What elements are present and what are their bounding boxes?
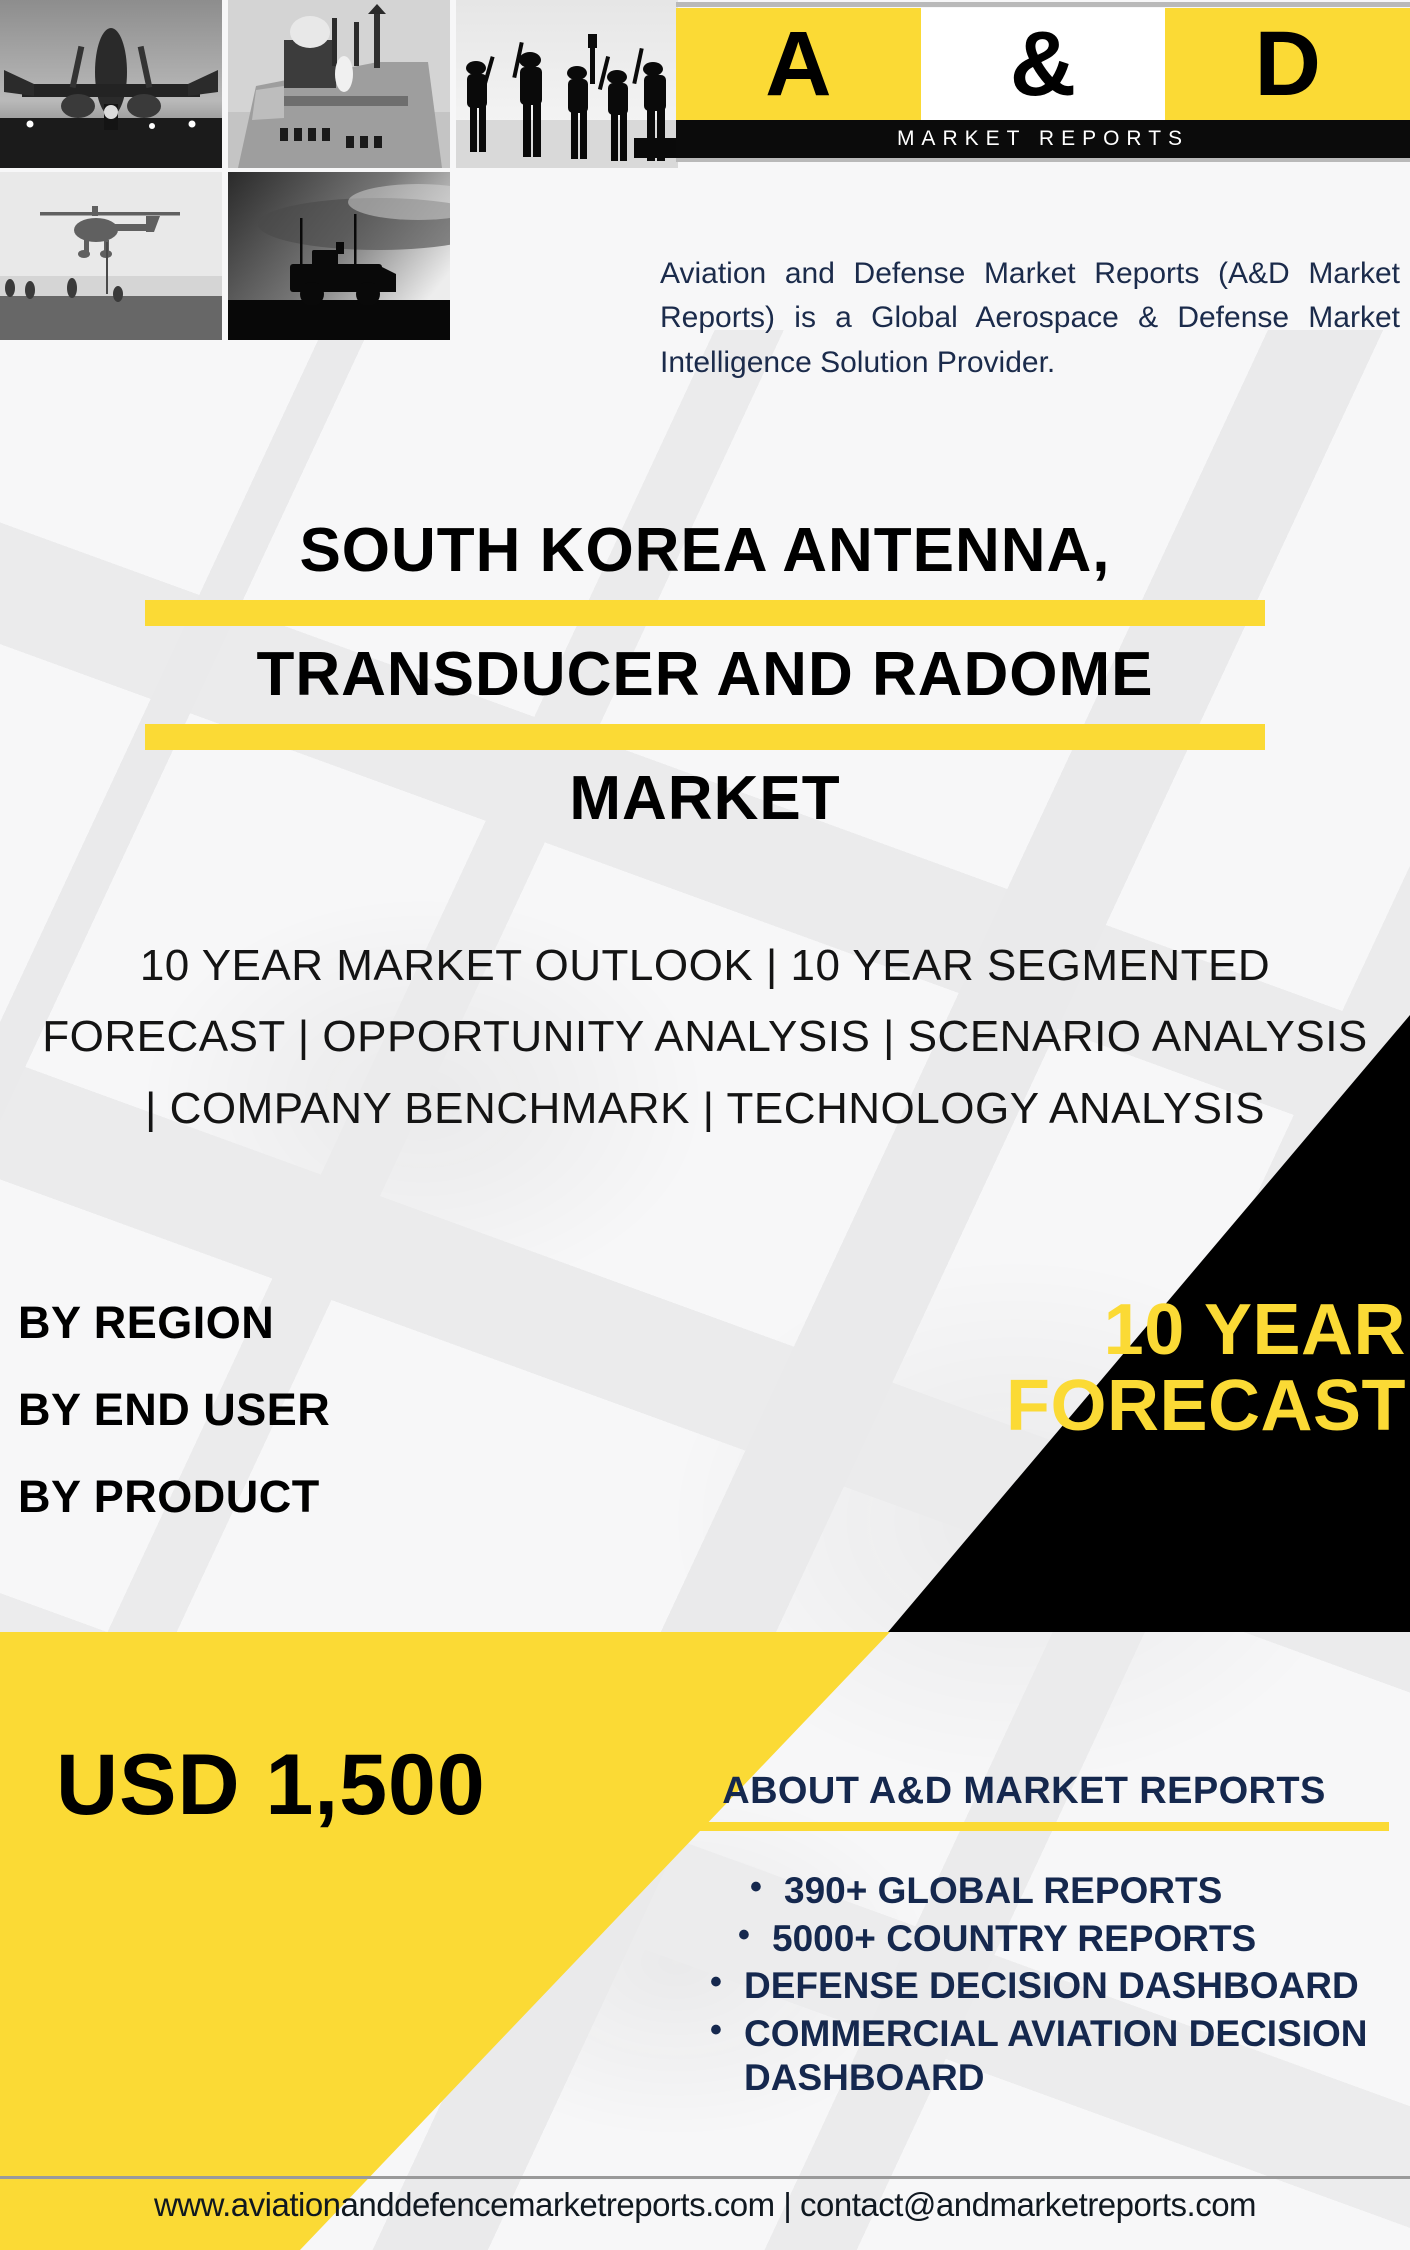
logo-subtitle-text: MARKET REPORTS: [897, 127, 1189, 151]
title-highlight-bar-1: [145, 600, 1265, 626]
logo-letters: A & D: [676, 8, 1410, 120]
list-item: 5000+ COUNTRY REPORTS: [738, 1917, 1400, 1961]
price-value: USD 1,500: [56, 1736, 486, 1835]
segmentation-list: BY REGION BY END USER BY PRODUCT: [18, 1300, 638, 1561]
logo-top-rule: [676, 2, 1410, 7]
footer-contact: www.aviationanddefencemarketreports.com …: [0, 2186, 1410, 2224]
naval-warship-photo: [228, 0, 450, 168]
logo-letter-a: A: [676, 8, 921, 120]
armored-vehicle-photo: [228, 172, 450, 340]
list-item: COMMERCIAL AVIATION DECISION DASHBOARD: [710, 2012, 1400, 2099]
about-panel-title: ABOUT A&D MARKET REPORTS: [648, 1770, 1400, 1813]
brand-logo: A & D MARKET REPORTS: [676, 2, 1410, 162]
logo-letter-d: D: [1165, 8, 1410, 120]
forecast-line-1: 10 YEAR: [766, 1292, 1406, 1368]
about-title-underline: [659, 1822, 1389, 1831]
page-title: SOUTH KOREA ANTENNA, TRANSDUCER AND RADO…: [0, 520, 1410, 830]
forecast-badge: 10 YEAR FORECAST: [766, 1292, 1406, 1445]
segment-item-by-region: BY REGION: [18, 1300, 638, 1345]
list-item: DEFENSE DECISION DASHBOARD: [710, 1964, 1400, 2008]
list-item: 390+ GLOBAL REPORTS: [750, 1869, 1400, 1913]
company-intro-text: Aviation and Defense Market Reports (A&D…: [660, 252, 1400, 385]
about-panel: ABOUT A&D MARKET REPORTS 390+ GLOBAL REP…: [648, 1770, 1400, 2103]
segment-item-by-product: BY PRODUCT: [18, 1474, 638, 1519]
fighter-jet-on-carrier-photo: [0, 0, 222, 168]
military-helicopter-photo: [0, 172, 222, 340]
segment-item-by-end-user: BY END USER: [18, 1387, 638, 1432]
title-highlight-bar-2: [145, 724, 1265, 750]
title-line-3: MARKET: [0, 768, 1410, 830]
marketing-poster: A & D MARKET REPORTS Aviation and Defens…: [0, 0, 1410, 2250]
report-scope-subtitle: 10 YEAR MARKET OUTLOOK | 10 YEAR SEGMENT…: [30, 930, 1380, 1144]
title-line-2: TRANSDUCER AND RADOME: [0, 644, 1410, 706]
logo-letter-ampersand: &: [921, 8, 1166, 120]
logo-bottom-rule: [676, 158, 1410, 162]
forecast-line-2: FORECAST: [766, 1368, 1406, 1444]
footer-divider: [0, 2176, 1410, 2179]
title-line-1: SOUTH KOREA ANTENNA,: [0, 520, 1410, 582]
about-feature-list: 390+ GLOBAL REPORTS 5000+ COUNTRY REPORT…: [710, 1869, 1400, 2099]
logo-subtitle-bar: MARKET REPORTS: [676, 120, 1410, 158]
soldiers-silhouette-photo: [456, 0, 678, 168]
